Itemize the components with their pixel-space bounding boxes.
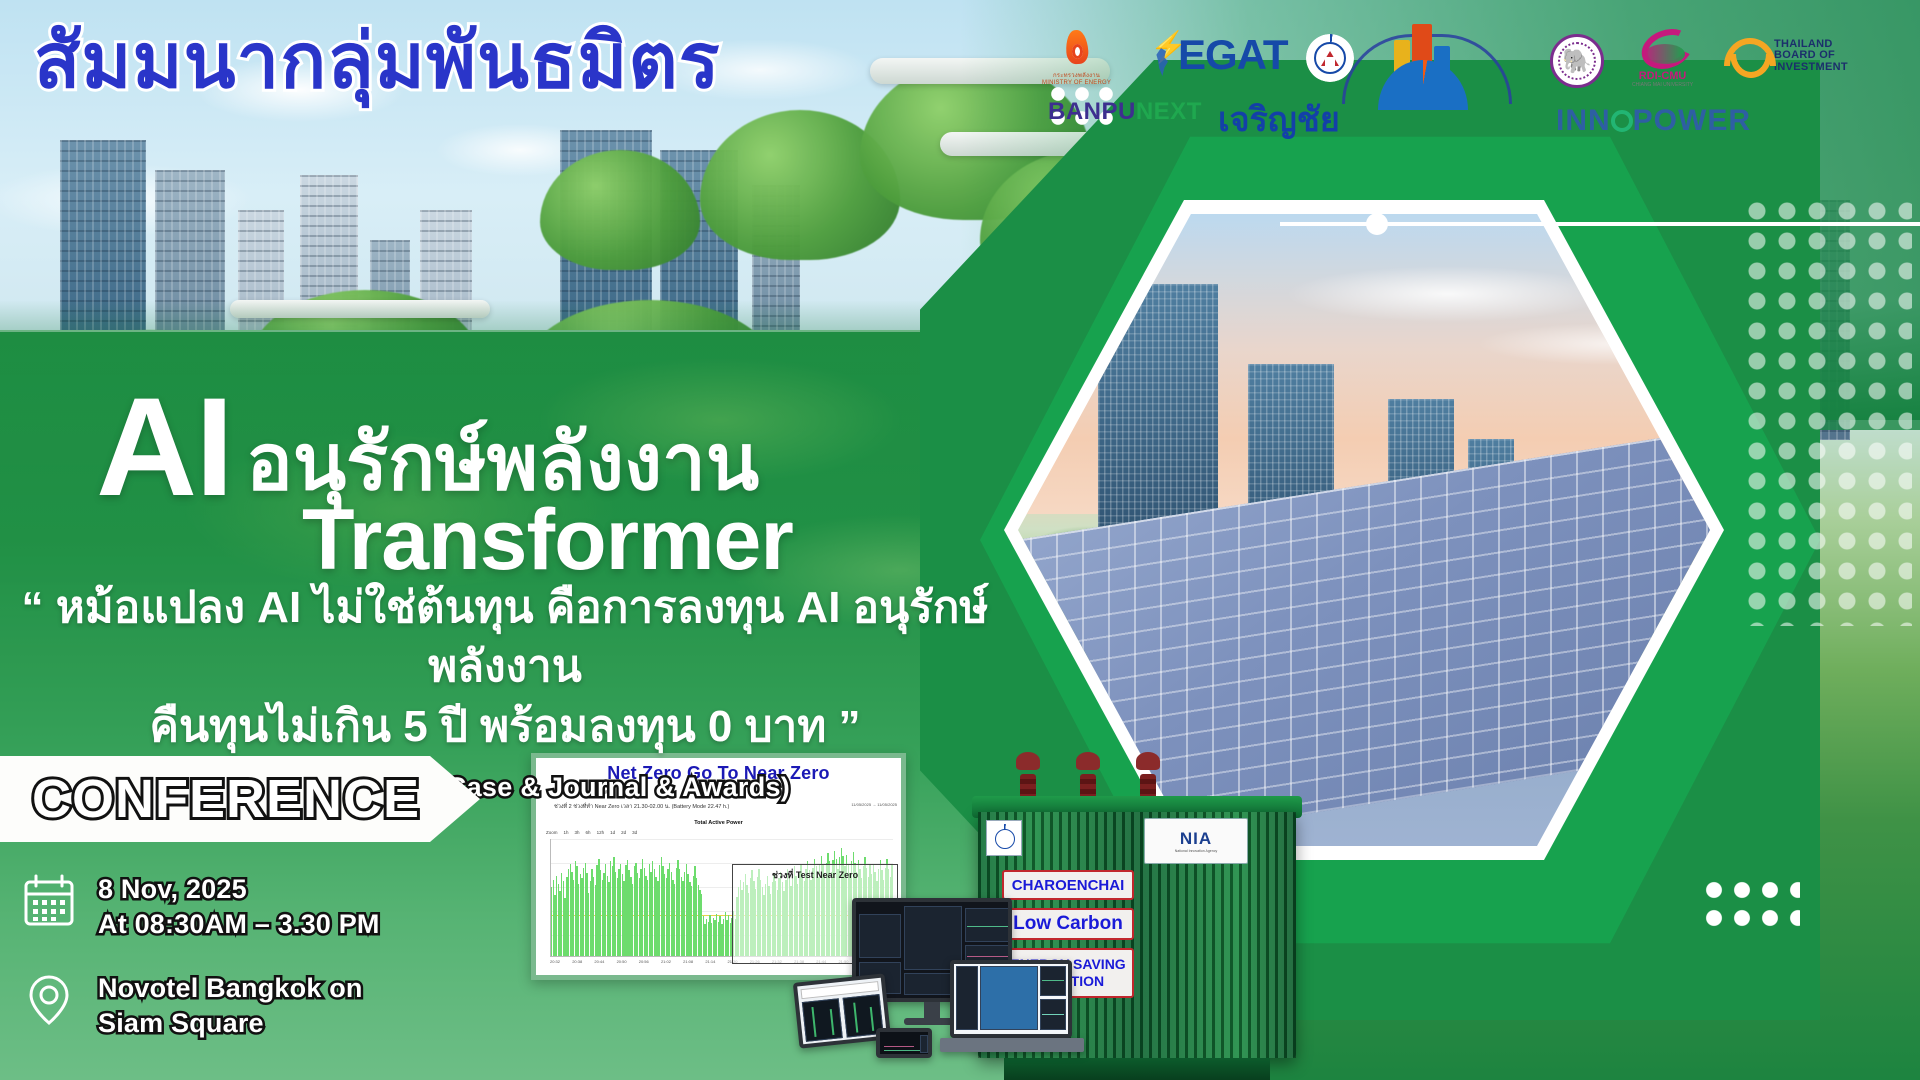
main-title: AI อนุรักษ์พลังงาน Transformer	[96, 390, 793, 590]
location-pin-icon	[22, 971, 76, 1029]
partner-logo-strip: กระทรวงพลังงาน MINISTRY OF ENERGY EGAT B…	[820, 8, 1910, 138]
quote-line-1: “ หม้อแปลง AI ไม่ใช่ต้นทุน คือการลงทุน A…	[0, 578, 1010, 697]
decor-line-dot	[1366, 213, 1388, 235]
chart-inset-label: ช่วงที่ Test Near Zero	[733, 868, 897, 882]
logo-egat: EGAT	[1150, 34, 1288, 76]
triangle-icon	[1321, 51, 1339, 66]
devices-cluster	[790, 888, 1090, 1080]
event-date: 8 Nov, 2025	[98, 872, 380, 907]
logo-boi-line3: INVESTMENT	[1774, 62, 1848, 74]
chart-toolbar-item[interactable]: 12h	[597, 830, 605, 835]
event-venue-row: Novotel Bangkok on Siam Square	[22, 971, 380, 1040]
boi-swirl-icon	[1722, 36, 1768, 76]
nia-caption: National Innovation Agency	[1175, 849, 1217, 853]
page-title: สัมมนากลุ่มพันธมิตร	[34, 22, 721, 102]
chart-toolbar-item[interactable]: 3d	[632, 830, 637, 835]
event-venue-line1: Novotel Bangkok on	[98, 971, 363, 1006]
lightning-bolt-icon	[1150, 34, 1176, 76]
flame-icon	[1060, 30, 1094, 70]
logo-innopower-part2: POWER	[1633, 104, 1751, 137]
device-laptop	[950, 960, 1072, 1038]
logo-innopower: INNPOWER	[1556, 104, 1751, 138]
phone-screen	[880, 1032, 928, 1054]
logo-innopower-part1: INN	[1556, 104, 1611, 137]
logo-city-gear	[1376, 22, 1470, 110]
laptop-keyboard	[940, 1038, 1084, 1052]
chart-toolbar-item[interactable]: 3h	[575, 830, 580, 835]
chart-plot-caption: Total Active Power	[536, 820, 901, 826]
logo-rdi-cmu: RDI-CMU CHIANG MAI UNIVERSITY	[1632, 30, 1693, 88]
chart-x-tick: 20:56	[639, 959, 649, 964]
nia-logo-text: NIA	[1180, 829, 1212, 849]
tablet-screen	[797, 978, 887, 1044]
event-info: 8 Nov, 2025 At 08:30AM – 3.30 PM Novotel…	[22, 872, 380, 1070]
chart-note-2: ช่วงที่ 2 ช่วงที่ทำ Near Zero เวลา 21.30…	[554, 803, 901, 812]
decor-dot-grid-bottomright	[1700, 876, 1800, 936]
conference-badge: CONFERENCE	[0, 756, 480, 842]
logo-boi: THAILAND BOARD OF INVESTMENT	[1722, 36, 1848, 76]
thailand-map-icon	[1152, 48, 1172, 76]
chart-x-tick: 21:08	[683, 959, 693, 964]
innopower-ring-icon	[1611, 110, 1633, 132]
logo-egat-gear	[1306, 34, 1354, 82]
title-transformer: Transformer	[302, 491, 793, 590]
logo-banpu-next: BANPUNEXT	[1048, 98, 1202, 126]
quote-line-2: คืนทุนไม่เกิน 5 ปี พร้อมลงทุน 0 บาท ”	[0, 697, 1010, 756]
logo-egat-wordmark: EGAT	[1178, 34, 1288, 76]
chart-x-tick: 20:44	[594, 959, 604, 964]
laptop-screen	[954, 964, 1068, 1034]
gear-core	[1314, 42, 1346, 74]
chart-x-tick: 21:14	[705, 959, 715, 964]
gear-icon	[990, 824, 1018, 852]
rdi-swirl-icon	[1637, 30, 1689, 70]
city-gear-icon	[1376, 22, 1470, 110]
logo-charoenchai-text: เจริญชัย	[1218, 92, 1340, 146]
gear-base-icon	[1378, 60, 1468, 110]
chart-x-tick: 20:32	[550, 959, 560, 964]
chart-toolbar[interactable]: Zoom1h3h6h12h1d2d3d	[546, 830, 901, 835]
device-phone	[876, 1028, 932, 1058]
charoenchai-gear-logo	[986, 820, 1022, 856]
logo-ministry-thai: กระทรวงพลังงาน	[1053, 70, 1100, 80]
calendar-icon	[22, 872, 76, 930]
logo-ministry-of-energy: กระทรวงพลังงาน MINISTRY OF ENERGY	[1042, 30, 1111, 86]
panel-top-stripe	[0, 330, 1060, 332]
event-venue-line2: Siam Square	[98, 1006, 363, 1041]
decor-dot-grid-right	[1742, 196, 1912, 626]
logo-banpu-text: BANPU	[1048, 98, 1136, 125]
logo-next-text: NEXT	[1136, 98, 1202, 125]
logo-cmu: 🐘	[1550, 34, 1604, 88]
chart-toolbar-item[interactable]: 1d	[610, 830, 615, 835]
cmu-seal-icon: 🐘	[1550, 34, 1604, 88]
logo-rdi-text: RDI-CMU	[1639, 70, 1687, 82]
logo-ministry-caption: MINISTRY OF ENERGY	[1042, 80, 1111, 86]
chart-x-tick: 21:02	[661, 959, 671, 964]
chart-toolbar-item[interactable]: 6h	[586, 830, 591, 835]
chart-x-tick: 20:38	[572, 959, 582, 964]
chart-x-tick: 20:50	[617, 959, 627, 964]
title-ai: AI	[96, 390, 232, 505]
chart-toolbar-item[interactable]: 1h	[564, 830, 569, 835]
logo-charoenchai: เจริญชัย	[1218, 92, 1340, 146]
poster-root: สัมมนากลุ่มพันธมิตร กระทรวงพลังงาน MINIS…	[0, 0, 1920, 1080]
event-date-row: 8 Nov, 2025 At 08:30AM – 3.30 PM	[22, 872, 380, 941]
chart-toolbar-item[interactable]: Zoom	[546, 830, 558, 835]
conference-label: CONFERENCE	[32, 768, 420, 830]
gear-icon	[1306, 34, 1354, 82]
event-time: At 08:30AM – 3.30 PM	[98, 907, 380, 942]
chart-toolbar-item[interactable]: 2d	[621, 830, 626, 835]
nia-plate: NIA National Innovation Agency	[1144, 818, 1248, 864]
logo-rdi-sub: CHIANG MAI UNIVERSITY	[1632, 82, 1693, 88]
